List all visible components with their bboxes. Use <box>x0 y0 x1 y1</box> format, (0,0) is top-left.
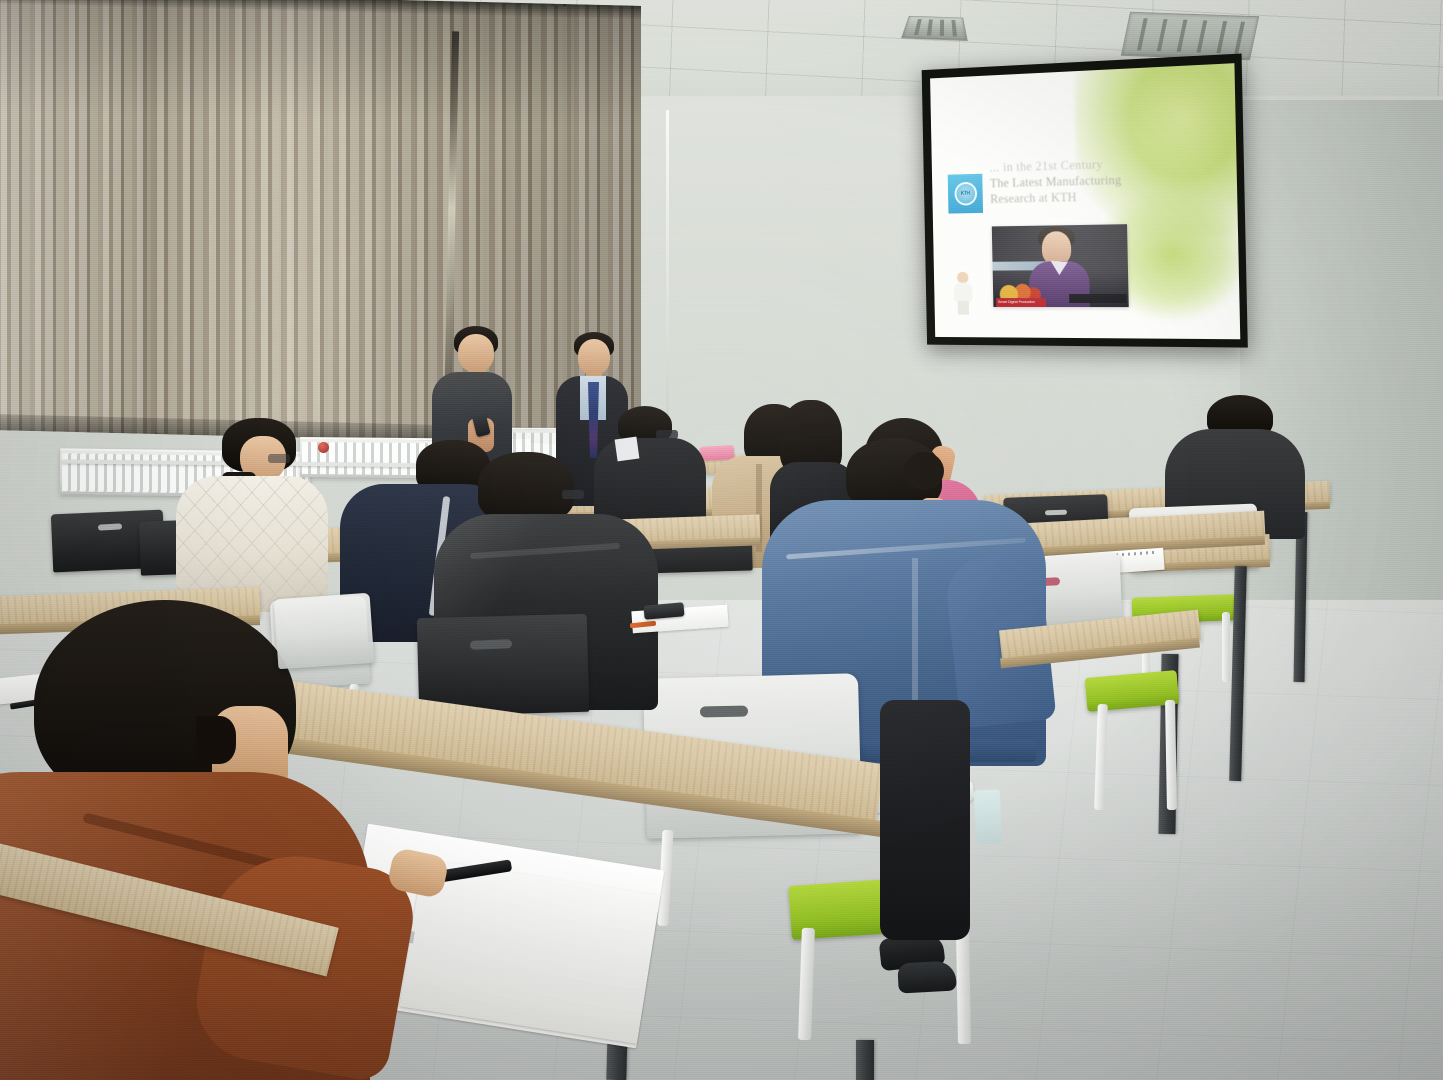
desk-leg <box>856 1040 874 1080</box>
chair-handle <box>98 523 122 530</box>
hair-side <box>196 716 236 764</box>
projected-slide: KTH ... in the 21st Century The Latest M… <box>930 63 1240 339</box>
slide-photo-darkbar <box>1069 294 1127 303</box>
water-bottle <box>974 789 1003 844</box>
classroom-photo: KTH ... in the 21st Century The Latest M… <box>0 0 1443 1080</box>
chair-white[interactable] <box>274 593 375 670</box>
shirt-collar <box>615 437 640 462</box>
shoe <box>897 961 956 994</box>
radiator-valve <box>318 442 329 453</box>
hair <box>478 452 574 522</box>
window-curtain <box>0 0 641 446</box>
glasses-icon <box>562 490 584 499</box>
chair-leg <box>1222 612 1230 682</box>
glasses-icon <box>268 454 290 463</box>
air-vent-icon <box>901 16 968 41</box>
legs <box>880 700 970 940</box>
chair-leg <box>1165 700 1177 810</box>
curtain-shading <box>0 0 641 446</box>
slide-title: ... in the 21st Century The Latest Manuf… <box>990 153 1209 207</box>
hair-bun <box>904 452 944 490</box>
chair-black[interactable] <box>417 614 590 716</box>
slide-photo-tag: Smart Digital Production <box>996 298 1046 307</box>
chair-handle <box>700 706 748 718</box>
slide-photo: Smart Digital Production <box>992 224 1129 307</box>
slide-photo-tag-text: Smart Digital Production <box>996 298 1046 307</box>
chair-handle <box>1045 510 1067 516</box>
right-wall <box>1240 100 1443 660</box>
chair-handle <box>470 639 512 649</box>
slide-logo-text: KTH <box>954 182 977 206</box>
projection-screen: KTH ... in the 21st Century The Latest M… <box>922 54 1248 348</box>
slide-logo-icon: KTH <box>948 174 983 214</box>
slide-small-figure <box>951 272 976 315</box>
